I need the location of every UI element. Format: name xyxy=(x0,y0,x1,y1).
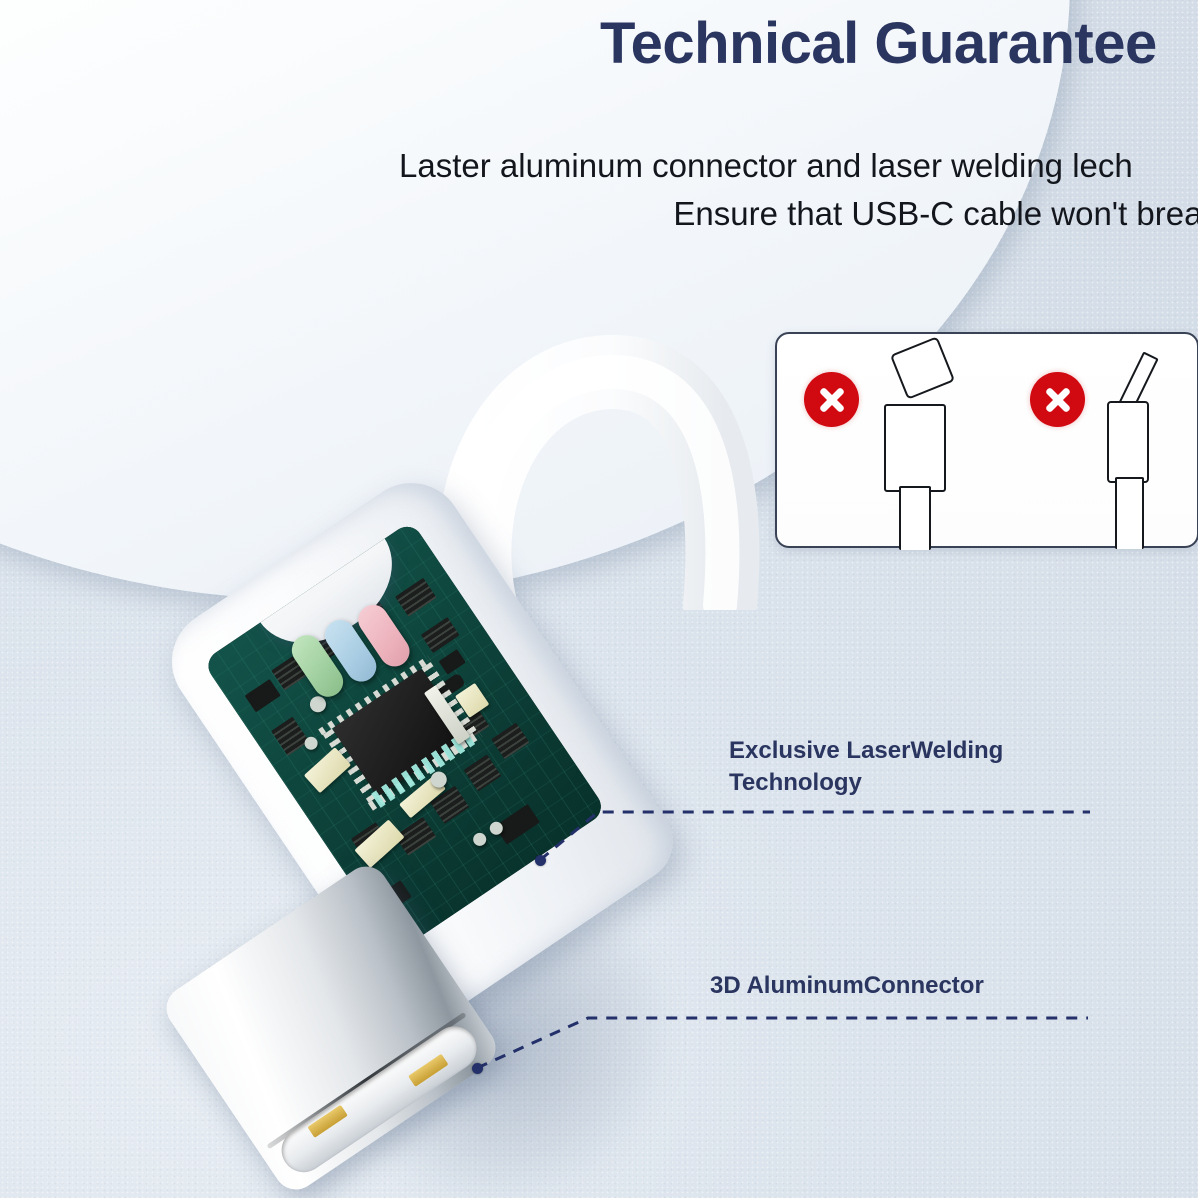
callout-laser-welding: Exclusive LaserWelding Technology xyxy=(729,735,1003,800)
callout-label-line-1: 3D AluminumConnector xyxy=(710,970,984,1002)
product-infographic: Technical Guarantee Laster aluminum conn… xyxy=(0,0,1198,1198)
callout-leader-lines xyxy=(0,0,1198,1198)
callout-anchor-dot xyxy=(535,855,546,866)
callout-anchor-dot xyxy=(472,1063,483,1074)
callout-label-line-1: Exclusive LaserWelding xyxy=(729,735,1003,767)
callout-aluminum-connector: 3D AluminumConnector xyxy=(710,970,984,1002)
callout-label-line-2: Technology xyxy=(729,767,1003,799)
